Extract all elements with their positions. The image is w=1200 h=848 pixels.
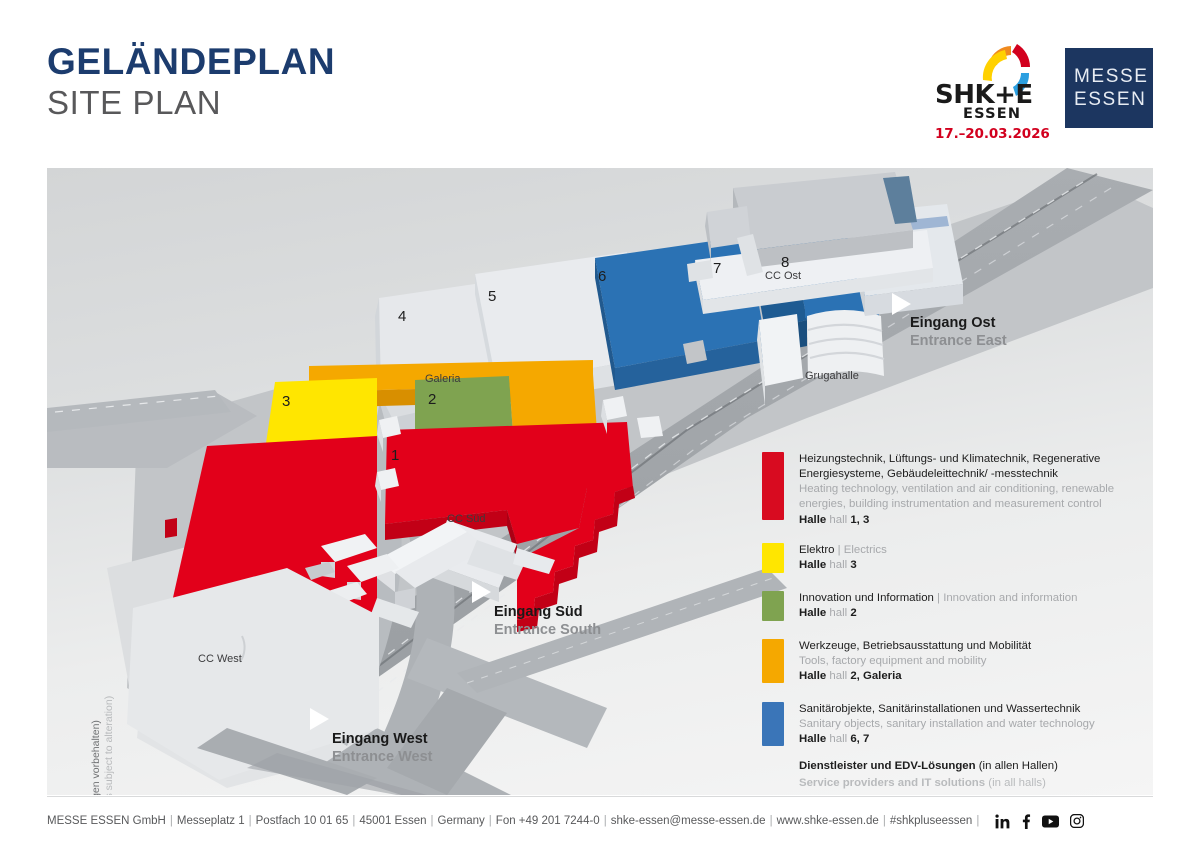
hall-number-1: 1: [391, 447, 399, 464]
footer-divider: [47, 796, 1153, 797]
youtube-icon[interactable]: [1042, 815, 1059, 828]
hall-number-6: 6: [598, 268, 606, 285]
legend-hall-de-1: Halle: [799, 559, 826, 571]
shke-essen-logo: SHK+E ESSEN 17.–20.03.2026: [935, 40, 1045, 138]
legend-footnote: Dienstleister und EDV-Lösungen (in allen…: [799, 758, 1142, 790]
legend-text-en-1: Electrics: [844, 544, 887, 556]
footer-contact-line: MESSE ESSEN GmbH|Messeplatz 1|Postfach 1…: [47, 815, 983, 827]
legend-hall-value-2: 2: [850, 607, 856, 619]
legend-footnote-en: Service providers and IT solutions (in a…: [799, 775, 1142, 791]
validity-note-en: Valid as of December 2025 (Dates subject…: [103, 696, 115, 795]
hall-number-8: 8: [781, 254, 789, 271]
legend-text-de-2: Innovation und Information: [799, 592, 934, 604]
legend-hall-de-0: Halle: [799, 514, 826, 526]
footer-part-2: Postfach 10 01 65: [256, 815, 349, 827]
legend-hall-value-0: 1, 3: [850, 514, 869, 526]
page-header: GELÄNDEPLAN SITE PLAN SHK+E ESSEN 17.–20…: [0, 0, 1200, 155]
legend-hall-en-0: hall: [829, 514, 847, 526]
legend-item-heating[interactable]: Heizungstechnik, Lüftungs- und Klimatech…: [762, 452, 1142, 529]
legend-item-sanitary[interactable]: Sanitärobjekte, Sanitärinstallationen un…: [762, 702, 1142, 748]
legend-text-de-1: Elektro: [799, 544, 834, 556]
legend-swatch-red: [762, 452, 784, 520]
footer-part-5: Fon +49 201 7244-0: [496, 815, 600, 827]
hall-number-4: 4: [398, 308, 406, 325]
legend-swatch-green: [762, 591, 784, 621]
label-cc-west: CC West: [198, 653, 242, 665]
site-map[interactable]: 4 5 6 7 8 1 2 3 Grugahalle CC Ost CC Süd…: [47, 168, 1153, 795]
title-german: GELÄNDEPLAN: [47, 42, 335, 82]
entrance-south-label-en: Entrance South: [494, 622, 601, 638]
legend-footnote-de-bold: Dienstleister und EDV-Lösungen: [799, 760, 976, 772]
legend-hall-1: Halle hall 3: [799, 558, 887, 574]
logo-dates: 17.–20.03.2026: [935, 126, 1050, 142]
linkedin-icon[interactable]: [995, 814, 1010, 829]
site-plan-page: GELÄNDEPLAN SITE PLAN SHK+E ESSEN 17.–20…: [0, 0, 1200, 848]
legend-text-en-2: Innovation and information: [943, 592, 1077, 604]
entrance-west-label-de: Eingang West: [332, 731, 428, 747]
legend-swatch-orange: [762, 639, 784, 683]
entrance-east[interactable]: Eingang Ost Entrance East: [892, 293, 1072, 353]
legend-hall-en-1: hall: [829, 559, 847, 571]
label-cc-sued: CC Süd: [447, 513, 486, 525]
legend-hall-en-3: hall: [829, 670, 847, 682]
legend-text-de-0: Heizungstechnik, Lüftungs- und Klimatech…: [799, 452, 1142, 482]
legend-hall-0: Halle hall 1, 3: [799, 513, 1142, 529]
instagram-icon[interactable]: [1070, 814, 1084, 828]
logo-brand-city: ESSEN: [963, 106, 1053, 122]
entrance-south-marker-icon: [472, 581, 491, 603]
legend-hall-value-4: 6, 7: [850, 733, 869, 745]
entrance-south-label-de: Eingang Süd: [494, 604, 583, 620]
hall-number-2: 2: [428, 391, 436, 408]
entrance-west-label-en: Entrance West: [332, 749, 432, 765]
page-title: GELÄNDEPLAN SITE PLAN: [47, 42, 335, 122]
page-footer: MESSE ESSEN GmbH|Messeplatz 1|Postfach 1…: [47, 808, 1153, 834]
entrance-west[interactable]: Eingang West Entrance West: [310, 708, 500, 768]
entrance-west-marker-icon: [310, 708, 329, 730]
legend-line-2: Innovation und Information | Innovation …: [799, 591, 1077, 606]
hall-number-3: 3: [282, 393, 290, 410]
entrance-east-label-en: Entrance East: [910, 333, 1007, 349]
legend-text-en-3: Tools, factory equipment and mobility: [799, 654, 1031, 669]
legend-footnote-de: Dienstleister und EDV-Lösungen (in allen…: [799, 758, 1142, 774]
legend-text-de-4: Sanitärobjekte, Sanitärinstallationen un…: [799, 702, 1095, 717]
footer-part-0: MESSE ESSEN GmbH: [47, 815, 166, 827]
legend-swatch-yellow: [762, 543, 784, 573]
legend-hall-en-2: hall: [829, 607, 847, 619]
entrance-east-label-de: Eingang Ost: [910, 315, 995, 331]
facebook-icon[interactable]: [1021, 814, 1031, 829]
legend-text-en-4: Sanitary objects, sanitary installation …: [799, 717, 1095, 732]
legend-hall-de-2: Halle: [799, 607, 826, 619]
legend-hall-value-1: 3: [850, 559, 856, 571]
footer-part-4: Germany: [438, 815, 485, 827]
legend-item-tools[interactable]: Werkzeuge, Betriebsausstattung und Mobil…: [762, 639, 1142, 685]
legend-line-1: Elektro | Electrics: [799, 543, 887, 558]
title-english: SITE PLAN: [47, 84, 335, 122]
legend-item-innovation[interactable]: Innovation und Information | Innovation …: [762, 591, 1142, 622]
messe-logo-line2: ESSEN: [1074, 89, 1146, 111]
messe-logo-line1: MESSE: [1074, 66, 1149, 88]
legend-footnote-en-bold: Service providers and IT solutions: [799, 777, 985, 789]
legend-swatch-blue: [762, 702, 784, 746]
entrance-east-marker-icon: [892, 293, 911, 315]
validity-note: Stand: Dezember 2025 (Änderungen vorbeha…: [102, 703, 128, 795]
legend-hall-de-3: Halle: [799, 670, 826, 682]
hall-number-7: 7: [713, 260, 721, 277]
legend-item-electrics[interactable]: Elektro | Electrics Halle hall 3: [762, 543, 1142, 574]
entrance-south[interactable]: Eingang Süd Entrance South: [472, 581, 662, 641]
validity-note-de: Stand: Dezember 2025 (Änderungen vorbeha…: [90, 720, 102, 795]
label-grugahalle: Grugahalle: [805, 370, 859, 382]
footer-hashtag[interactable]: #shkpluseessen: [890, 815, 972, 827]
legend-footnote-de-rest: (in allen Hallen): [979, 760, 1058, 772]
label-galeria: Galeria: [425, 373, 460, 385]
footer-website[interactable]: www.shke-essen.de: [777, 815, 879, 827]
messe-essen-logo: MESSE ESSEN: [1065, 48, 1153, 128]
legend-hall-value-3: 2, Galeria: [850, 670, 901, 682]
legend-footnote-en-rest: (in all halls): [988, 777, 1046, 789]
legend-hall-2: Halle hall 2: [799, 606, 1077, 622]
legend-hall-de-4: Halle: [799, 733, 826, 745]
footer-email[interactable]: shke-essen@messe-essen.de: [611, 815, 766, 827]
footer-part-3: 45001 Essen: [359, 815, 426, 827]
legend: Heizungstechnik, Lüftungs- und Klimatech…: [762, 452, 1142, 791]
legend-text-de-3: Werkzeuge, Betriebsausstattung und Mobil…: [799, 639, 1031, 654]
legend-text-en-0: Heating technology, ventilation and air …: [799, 482, 1142, 512]
legend-hall-en-4: hall: [829, 733, 847, 745]
hall-number-5: 5: [488, 288, 496, 305]
social-links: [995, 814, 1084, 829]
legend-hall-4: Halle hall 6, 7: [799, 732, 1095, 748]
label-cc-ost: CC Ost: [765, 270, 801, 282]
legend-hall-3: Halle hall 2, Galeria: [799, 669, 1031, 685]
footer-part-1: Messeplatz 1: [177, 815, 245, 827]
